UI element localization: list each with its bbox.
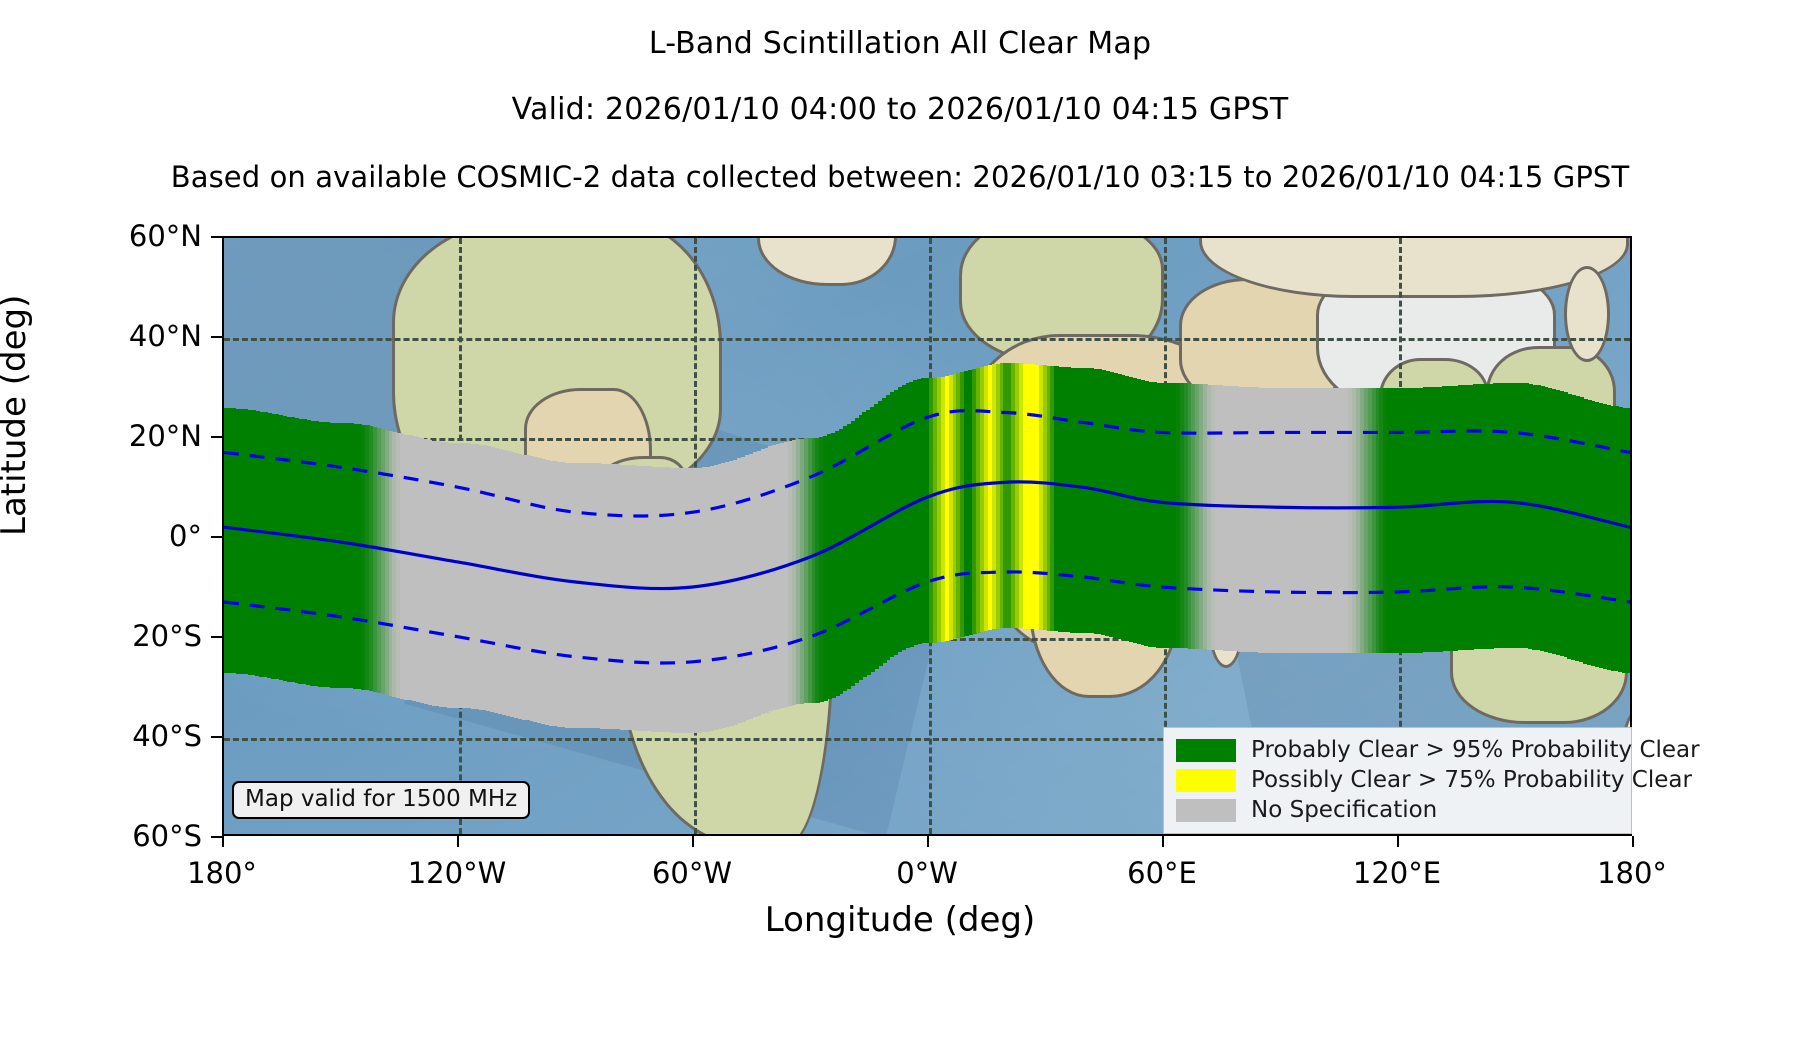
y-tick-label: 40°S <box>92 719 202 753</box>
y-tick <box>211 436 222 438</box>
x-tick-label: 120°W <box>408 856 507 890</box>
x-tick-label: 60°W <box>652 856 732 890</box>
frequency-annotation: Map valid for 1500 MHz <box>232 781 530 819</box>
y-tick-label: 20°S <box>92 619 202 653</box>
y-tick <box>211 336 222 338</box>
x-tick <box>1162 836 1164 847</box>
x-tick-label: 180° <box>1597 856 1667 890</box>
x-tick-label: 0°W <box>896 856 958 890</box>
x-tick <box>1397 836 1399 847</box>
y-tick <box>211 236 222 238</box>
legend-swatch-possibly-clear <box>1176 769 1236 792</box>
legend-item: No Specification <box>1176 795 1621 825</box>
y-tick-label: 60°N <box>92 219 202 253</box>
southern-boundary-line <box>224 572 1630 663</box>
legend-label-probably-clear: Probably Clear > 95% Probability Clear <box>1251 737 1700 763</box>
legend-swatch-probably-clear <box>1176 739 1236 762</box>
northern-boundary-line <box>224 411 1630 516</box>
y-axis-title: Latitude (deg) <box>0 295 34 536</box>
x-tick <box>222 836 224 847</box>
y-tick <box>211 536 222 538</box>
x-tick <box>1632 836 1634 847</box>
x-tick <box>927 836 929 847</box>
y-tick <box>211 736 222 738</box>
band-slice <box>1630 408 1632 673</box>
y-tick-label: 20°N <box>92 419 202 453</box>
legend: Probably Clear > 95% Probability Clear P… <box>1163 727 1632 834</box>
legend-label-possibly-clear: Possibly Clear > 75% Probability Clear <box>1251 767 1692 793</box>
x-tick-label: 180° <box>187 856 257 890</box>
y-tick-label: 40°N <box>92 319 202 353</box>
x-axis-title: Longitude (deg) <box>0 900 1800 940</box>
magnetic-equator-line <box>224 482 1630 589</box>
legend-item: Probably Clear > 95% Probability Clear <box>1176 735 1621 765</box>
x-tick-label: 120°E <box>1353 856 1441 890</box>
x-tick <box>692 836 694 847</box>
y-tick <box>211 636 222 638</box>
y-tick <box>211 836 222 838</box>
y-tick-label: 60°S <box>92 819 202 853</box>
legend-swatch-no-specification <box>1176 799 1236 822</box>
x-tick <box>457 836 459 847</box>
x-tick-label: 60°E <box>1127 856 1197 890</box>
legend-label-no-specification: No Specification <box>1251 797 1437 823</box>
y-tick-label: 0° <box>92 519 202 553</box>
figure-canvas: Probably Clear > 95% Probability Clear P… <box>0 0 1800 1050</box>
legend-item: Possibly Clear > 75% Probability Clear <box>1176 765 1621 795</box>
